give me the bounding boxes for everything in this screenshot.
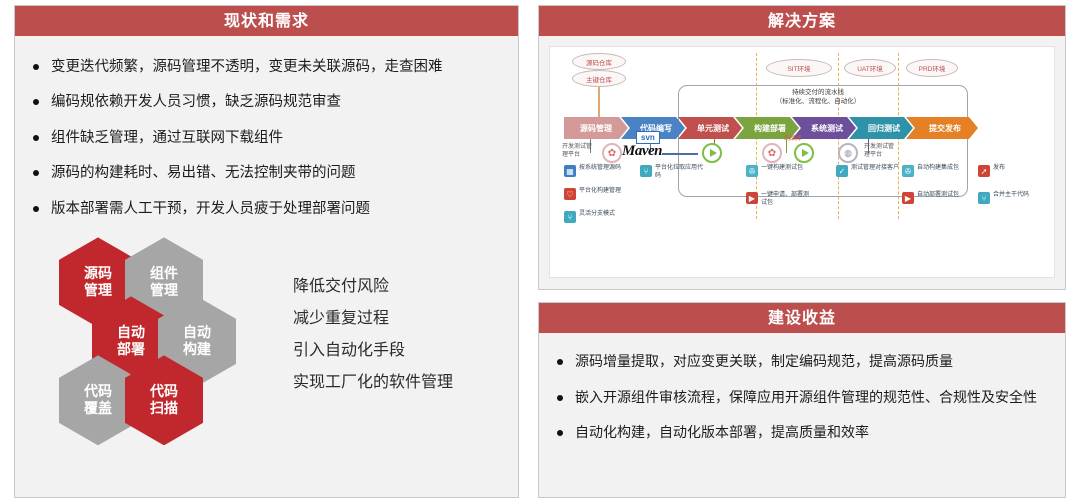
- feature-label: 自动构建集成包: [917, 165, 959, 173]
- feature-label: 平台化构建管理: [579, 188, 621, 196]
- feature-label: 发布: [993, 165, 1005, 173]
- wrench-icon: ✇: [746, 165, 758, 177]
- feature-label: 按系统管理源码: [579, 165, 621, 173]
- goal-item: 实现工厂化的软件管理: [293, 367, 453, 399]
- maven-to-build-arrow: [662, 153, 698, 155]
- play-icon-sit[interactable]: [794, 143, 814, 163]
- feature-label: 一键构建测试包: [761, 165, 803, 173]
- stage-source-management[interactable]: 源码管理: [564, 117, 628, 139]
- slide-canvas: 现状和需求 变更迭代频繁，源码管理不透明，变更未关联源码，走查困难 编码规依赖开…: [0, 0, 1080, 503]
- current-status-panel: 现状和需求 变更迭代频繁，源码管理不透明，变更未关联源码，走查困难 编码规依赖开…: [14, 5, 519, 498]
- pipeline-title-line2: （标准化、流程化、自动化）: [776, 98, 861, 105]
- solution-body: 源码仓库 主键仓库 SIT环境 UAT环境 PRD环境 持续交付的流水线 （标准…: [539, 38, 1065, 286]
- hexagon-label-line1: 自动: [183, 324, 211, 341]
- feature-item-6: ▶ 一键申请、部署测试包: [746, 192, 813, 207]
- gear-icon-sit: ✿: [762, 143, 782, 163]
- list-item: 变更迭代频繁，源码管理不透明，变更未关联源码，走查困难: [31, 56, 502, 78]
- stage-regression-test[interactable]: 回归测试: [849, 117, 913, 139]
- hexagon-label-line1: 代码: [150, 383, 178, 400]
- list-item: 嵌入开源组件审核流程，保障应用开源组件管理的规范性、合规性及安全性: [555, 387, 1047, 409]
- rocket-icon: ➚: [978, 165, 990, 177]
- feature-label: 一键申请、部署测试包: [761, 192, 813, 207]
- feature-item-5: ✇ 一键构建测试包: [746, 165, 803, 177]
- heart-icon: ♡: [564, 188, 576, 200]
- list-item: 组件缺乏管理，通过互联网下载组件: [31, 127, 502, 149]
- hexagon-label-line2: 覆盖: [84, 400, 112, 417]
- hexagon-label-line2: 构建: [183, 341, 211, 358]
- dev-test-platform-label-right: 开发测试管 理平台: [864, 144, 894, 160]
- feature-label: 自动部署测试包: [917, 192, 959, 200]
- goal-item: 减少重复过程: [293, 303, 453, 335]
- artifact-repo-tag: 制品库: [784, 133, 802, 142]
- dev-test-platform-label-left: 开发测试管 理平台: [562, 144, 592, 160]
- feature-label: 测试管理对接客户: [851, 165, 899, 173]
- current-status-body: 变更迭代频繁，源码管理不透明，变更未关联源码，走查困难 编码规依赖开发人员习惯，…: [15, 38, 518, 478]
- hexagon-label-line1: 源码: [84, 265, 112, 282]
- repo-connector-line: [598, 87, 600, 117]
- stage-unit-test[interactable]: 单元测试: [678, 117, 742, 139]
- goal-list: 降低交付风险 减少重复过程 引入自动化手段 实现工厂化的软件管理: [293, 271, 453, 399]
- hexagon-diagram: 源码 管理 组件 管理 自动 部署 自动 构建: [31, 233, 502, 478]
- hexagon-label-line1: 代码: [84, 383, 112, 400]
- feature-item-10: ➚ 发布: [978, 165, 1005, 177]
- feature-item-4: ⑂ 平台化拉取应用代码: [640, 165, 707, 180]
- play-icon: ▶: [902, 192, 914, 204]
- construction-benefit-panel: 建设收益 源码增量提取，对应变更关联，制定编码规范，提高源码质量 嵌入开源组件审…: [538, 302, 1066, 498]
- feature-item-8: ✇ 自动构建集成包: [902, 165, 959, 177]
- hexagon-label-line2: 扫描: [150, 400, 178, 417]
- goal-item: 降低交付风险: [293, 271, 453, 303]
- list-item: 版本部署需人工干预，开发人员疲于处理部署问题: [31, 198, 502, 220]
- feature-item-11: ⑂ 合并主干代码: [978, 192, 1029, 204]
- list-item: 源码的构建耗时、易出错、无法控制夹带的问题: [31, 162, 502, 184]
- pipeline-stage-row: 源码管理 代码编写 单元测试 构建部署 系统测试 回归测试 提交发布: [564, 117, 978, 139]
- branch-icon: ⑂: [564, 211, 576, 223]
- feature-item-2: ♡ 平台化构建管理: [564, 188, 621, 200]
- pipeline-title: 持续交付的流水线 （标准化、流程化、自动化）: [758, 89, 878, 107]
- construction-benefit-header: 建设收益: [539, 303, 1065, 335]
- feature-item-3: ⑂ 灵活分支模式: [564, 211, 615, 223]
- construction-benefit-body: 源码增量提取，对应变更关联，制定编码规范，提高源码质量 嵌入开源组件审核流程，保…: [539, 335, 1065, 444]
- solution-panel: 解决方案 源码仓库 主键仓库 SIT环境 UAT环境 PRD环境 持续交付的流水…: [538, 5, 1066, 290]
- solution-header: 解决方案: [539, 6, 1065, 38]
- play-icon: ▶: [746, 192, 758, 204]
- env-ellipse-prd: PRD环境: [906, 59, 958, 77]
- goal-item: 引入自动化手段: [293, 335, 453, 367]
- gauge-icon: ◍: [838, 143, 858, 163]
- feature-label: 合并主干代码: [993, 192, 1029, 200]
- feature-item-1: ▦ 按系统管理源码: [564, 165, 621, 177]
- pipeline-diagram: 源码仓库 主键仓库 SIT环境 UAT环境 PRD环境 持续交付的流水线 （标准…: [549, 46, 1055, 278]
- source-repo-ellipse: 源码仓库: [572, 53, 626, 70]
- env-ellipse-uat: UAT环境: [844, 59, 896, 77]
- hexagon-label-line1: 自动: [117, 324, 145, 341]
- gear-icon: ✿: [602, 143, 622, 163]
- branch-icon: ⑂: [978, 192, 990, 204]
- hexagon-label-line1: 组件: [150, 265, 178, 282]
- wrench-icon: ✇: [902, 165, 914, 177]
- list-item: 源码增量提取，对应变更关联，制定编码规范，提高源码质量: [555, 351, 1047, 373]
- hexagon-label-line2: 管理: [84, 282, 112, 299]
- grid-icon: ▦: [564, 165, 576, 177]
- hexagon-label-line2: 管理: [150, 282, 178, 299]
- play-icon-build[interactable]: [702, 143, 722, 163]
- feature-label: 平台化拉取应用代码: [655, 165, 707, 180]
- stage-release[interactable]: 提交发布: [906, 117, 978, 139]
- env-ellipse-sit: SIT环境: [766, 59, 832, 77]
- artifact-repo-ellipse: 主键仓库: [572, 70, 626, 87]
- maven-logo: Maven: [622, 143, 662, 160]
- hexagon-cluster: 源码 管理 组件 管理 自动 部署 自动 构建: [59, 237, 274, 475]
- pipeline-title-line1: 持续交付的流水线: [792, 89, 844, 96]
- benefit-list: 源码增量提取，对应变更关联，制定编码规范，提高源码质量 嵌入开源组件审核流程，保…: [555, 351, 1047, 444]
- list-item: 自动化构建，自动化版本部署，提高质量和效率: [555, 422, 1047, 444]
- current-status-header: 现状和需求: [15, 6, 518, 38]
- branch-icon: ⑂: [640, 165, 652, 177]
- feature-label: 灵活分支模式: [579, 211, 615, 219]
- list-item: 编码规依赖开发人员习惯，缺乏源码规范审查: [31, 91, 502, 113]
- feature-item-9: ▶ 自动部署测试包: [902, 192, 959, 204]
- hexagon-label-line2: 部署: [117, 341, 145, 358]
- feature-item-7: ✓ 测试管理对接客户: [836, 165, 899, 177]
- check-icon: ✓: [836, 165, 848, 177]
- problem-list: 变更迭代频繁，源码管理不透明，变更未关联源码，走查困难 编码规依赖开发人员习惯，…: [31, 56, 502, 220]
